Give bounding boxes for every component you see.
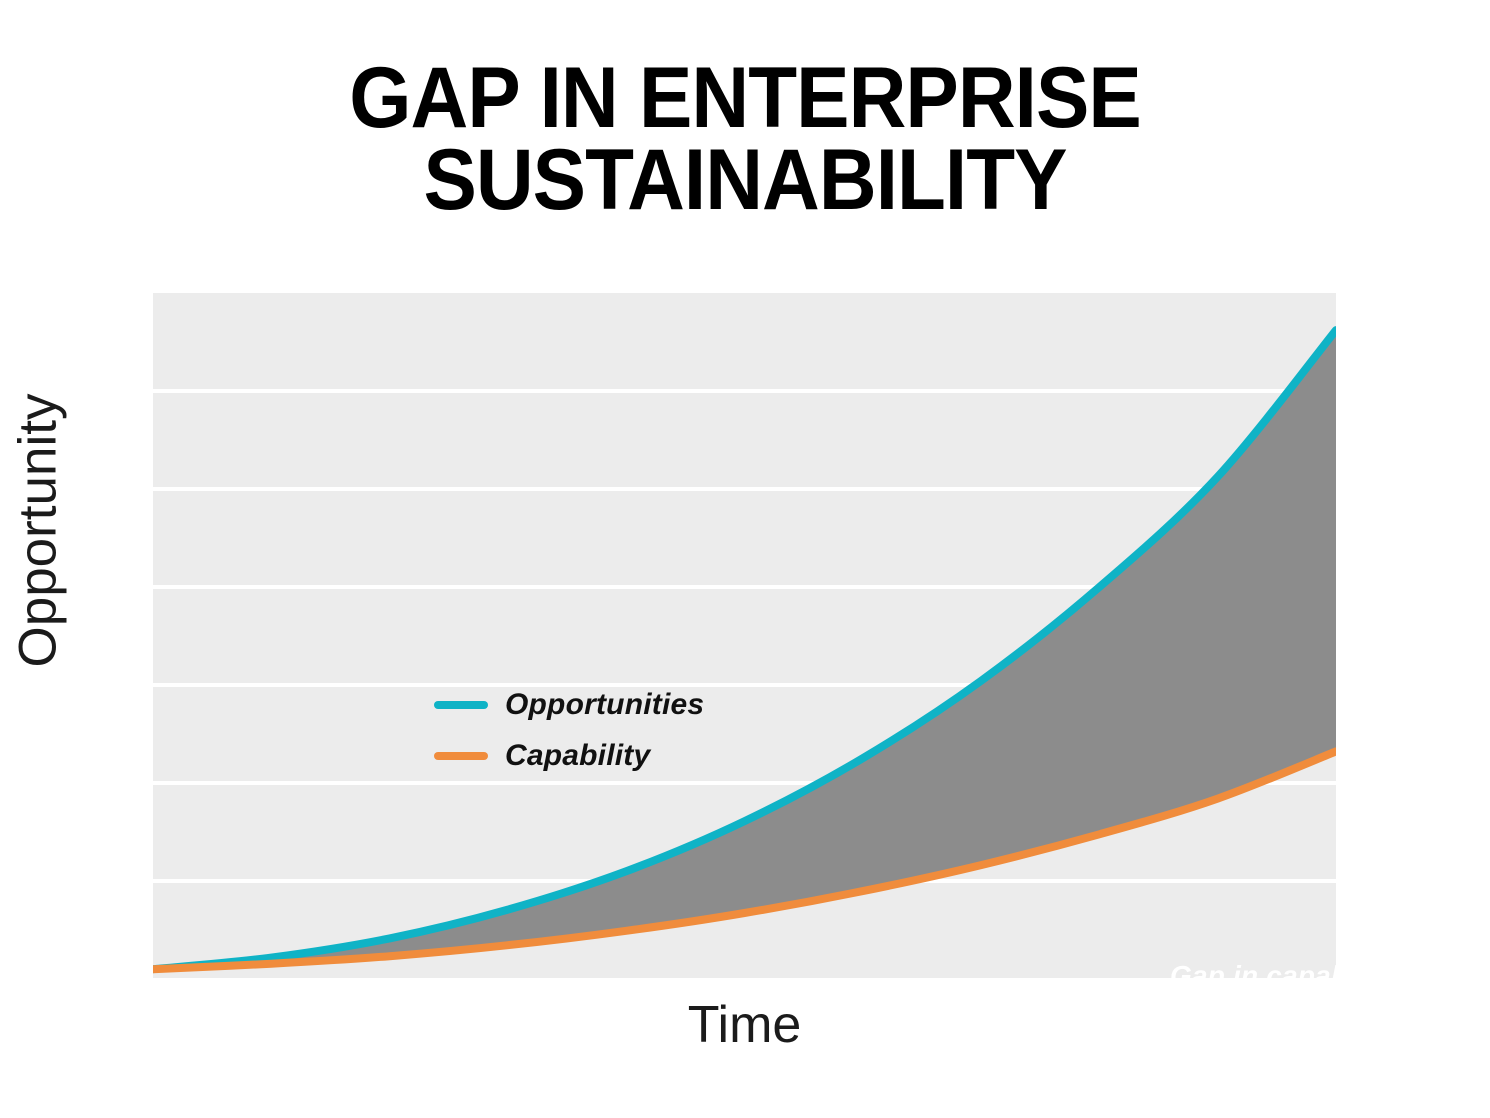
legend-swatch-opportunities (434, 701, 488, 709)
chart-figure: Opportunities Capability Gap in capabili… (0, 0, 1490, 1118)
y-axis-label: Opportunity (8, 301, 69, 761)
legend-item-capability[interactable]: Capability (434, 740, 704, 772)
legend-label-opportunities: Opportunities (505, 688, 704, 722)
legend-label-capability: Capability (505, 739, 650, 773)
legend-swatch-capability (434, 752, 488, 760)
chart-legend: Opportunities Capability (434, 689, 704, 772)
x-axis-label: Time (153, 995, 1336, 1055)
legend-item-opportunities[interactable]: Opportunities (434, 689, 704, 721)
gap-fill-region (153, 330, 1336, 969)
plot-area: Opportunities Capability Gap in capabili… (153, 293, 1336, 978)
chart-svg (153, 293, 1336, 978)
gap-annotation-text: Gap in capability to explore & exploit o… (1170, 959, 1336, 978)
